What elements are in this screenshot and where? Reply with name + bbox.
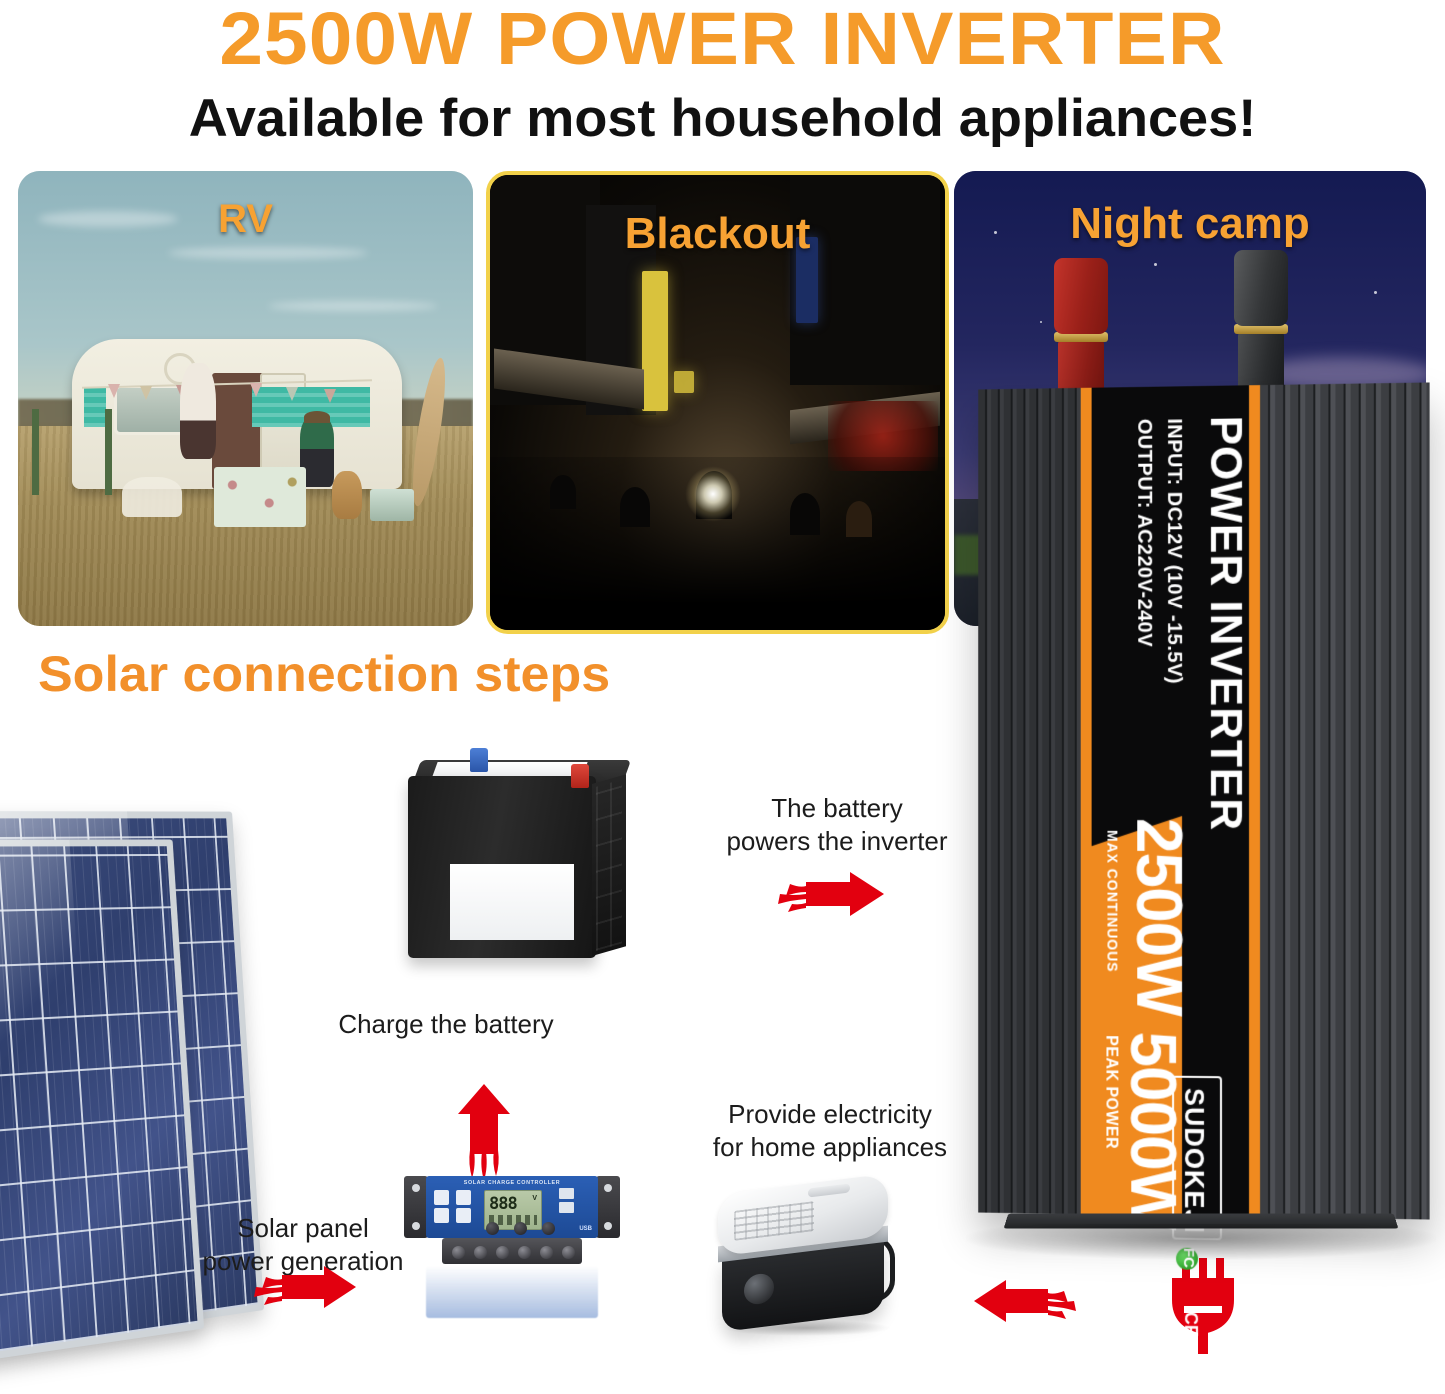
solar-panel-front [0,839,204,1369]
terminal-port [452,1246,465,1259]
post-cap [1054,258,1108,334]
person-adult [180,363,216,459]
scene-label-night-camp: Night camp [954,199,1426,249]
mount-bracket-right [596,1176,620,1238]
mount-hole [604,1184,612,1192]
page-title: 2500W POWER INVERTER [0,0,1445,81]
scene-label-rv: RV [18,197,473,242]
section-title: Solar connection steps [38,645,610,703]
picnic-table [214,467,306,527]
mount-hole [604,1222,612,1230]
controller-button-menu[interactable] [486,1222,499,1235]
bunting-flag [286,387,298,401]
post-stem [1238,332,1284,390]
person-silhouette [620,487,650,527]
car-battery [396,748,628,963]
max-continuous-label: MAX CONTINUOUS [1104,830,1120,973]
usb-port[interactable] [559,1202,574,1213]
cooler-box [370,489,414,521]
bunting-flag [250,383,262,397]
street-sign-yellow [642,271,668,411]
terminal-port [540,1246,553,1259]
scene-label-blackout: Blackout [490,209,945,259]
caption-line-2: for home appliances [700,1131,960,1164]
page-subtitle: Available for most household appliances! [0,88,1445,149]
cloud [268,301,438,311]
bunting-flag [108,384,120,398]
caption-line-1: The battery [712,792,962,825]
controller-reflection [426,1266,598,1318]
mode-icon [434,1190,449,1205]
sun-icon [456,1190,471,1205]
rice-cooker [712,1180,902,1340]
max-continuous-value: 2500W [1122,818,1196,1016]
caption-home-appliances: Provide electricity for home appliances [700,1098,960,1163]
scene-photo-rv: RV [18,171,473,626]
post-cap [1234,250,1288,326]
controller-terminal-block [442,1238,582,1264]
clock-icon [434,1208,449,1223]
wooden-a-frame [32,409,112,495]
scene-photo-blackout: Blackout [486,171,949,634]
mount-hole [412,1184,420,1192]
brand-logo-text: SUDOKEJI [1178,1088,1209,1234]
person-silhouette [790,493,820,535]
caption-line-1: Provide electricity [700,1098,960,1131]
person-silhouette [846,501,872,537]
terminal-port [496,1246,509,1259]
chair [122,477,182,517]
flame-arrow-left-icon [972,1280,1076,1322]
dog [332,471,362,519]
bunting-flag [324,389,336,403]
ce-icon: CE [1180,1312,1201,1337]
caption-line-2: powers the inverter [712,825,962,858]
lcd-value: 888 [489,1194,517,1214]
product-output-spec: OUTPUT: AC220V-240V [1132,419,1155,648]
battery-terminal-negative [470,748,488,772]
battery-label [450,864,574,940]
controller-button-up[interactable] [514,1222,527,1235]
terminal-port [474,1246,487,1259]
controller-button-set[interactable] [542,1222,555,1235]
battery-side [592,774,626,956]
cloud [168,247,368,259]
heatsink-fins-left [978,388,1081,1214]
usb-label: USB [579,1226,592,1232]
inverter-housing: POWER INVERTER INPUT: DC12V (10V -15.5V)… [978,382,1429,1219]
controller-title: SOLAR CHARGE CONTROLLER [426,1180,598,1186]
power-inverter-product: POWER INVERTER INPUT: DC12V (10V -15.5V)… [966,258,1436,1258]
product-input-spec: INPUT: DC12V (10V -15.5V) [1162,418,1185,684]
flame-arrow-right-icon [776,872,886,916]
terminal-port [518,1246,531,1259]
lock-icon [456,1208,471,1223]
person-silhouette [550,475,576,509]
caption-line-1: Solar panel [188,1212,418,1245]
caption-charge-battery: Charge the battery [316,1008,576,1041]
bunting-flag [140,386,152,400]
light-flare [685,466,741,522]
lcd-unit: V [532,1195,537,1202]
flame-arrow-right-icon [254,1266,358,1308]
street-sign-small [674,371,694,393]
usb-port[interactable] [559,1188,574,1199]
solar-charge-controller: SOLAR CHARGE CONTROLLER 888 V USB [404,1172,620,1284]
battery-body [408,776,596,958]
certification-marks: FC CE [1176,1248,1216,1345]
controller-face: SOLAR CHARGE CONTROLLER 888 V USB [426,1176,598,1238]
battery-terminal-positive [571,764,589,788]
heatsink-fins-right [1260,382,1430,1219]
shadow [966,1224,1436,1260]
accent-stripe [1249,385,1260,1217]
product-name: POWER INVERTER [1200,415,1250,831]
flame-arrow-up-icon [456,1084,512,1180]
terminal-port [562,1246,575,1259]
hat [304,411,330,423]
caption-battery-powers-inverter: The battery powers the inverter [712,792,962,857]
